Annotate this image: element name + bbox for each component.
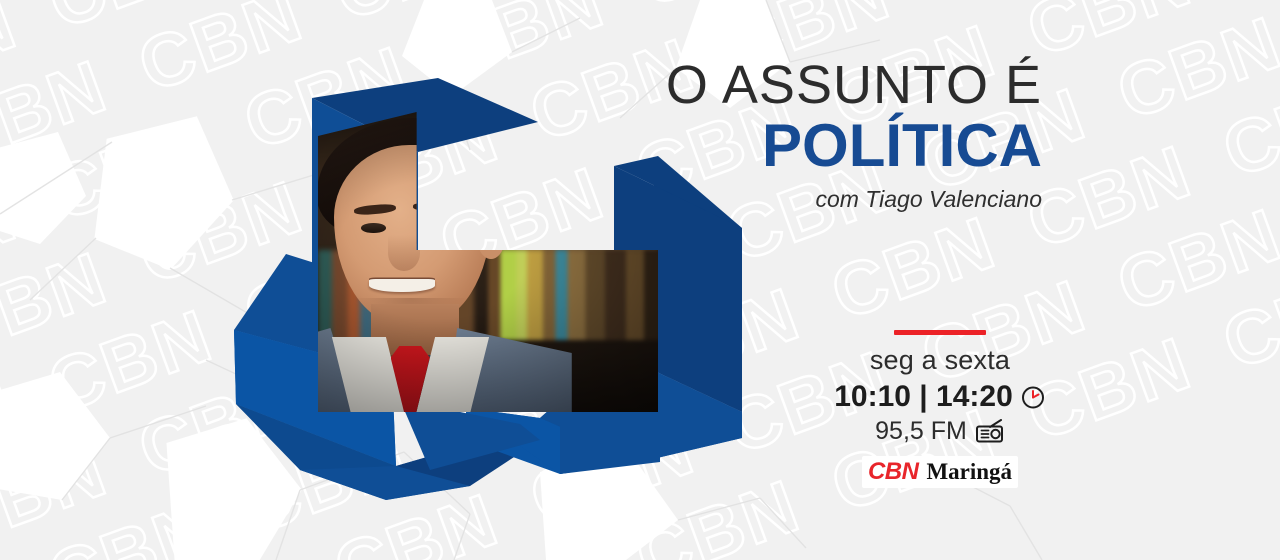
schedule-times: 10:10 | 14:20: [834, 380, 1013, 414]
cbn-city-text: Maringá: [926, 459, 1012, 485]
clock-icon: [1020, 384, 1046, 410]
radio-icon: [975, 419, 1005, 445]
cbn-brand-text: CBN: [868, 458, 919, 486]
watermark-row: CBNCBNCBNCBNCBNCBNCBNCBNCBN: [0, 0, 1280, 26]
headline-block: O ASSUNTO É POLÍTICA com Tiago Valencian…: [666, 58, 1042, 213]
banner-root: CBNCBNCBNCBNCBNCBNCBNCBNCBNCBNCBNCBNCBNC…: [0, 0, 1280, 560]
watermark-row: CBNCBNCBNCBNCBNCBNCBNCBNCBN: [0, 0, 1280, 218]
red-divider: [894, 330, 986, 335]
schedule-frequency-row: 95,5 FM: [840, 417, 1040, 446]
headline-line-2: POLÍTICA: [666, 115, 1042, 176]
schedule-times-row: 10:10 | 14:20: [840, 380, 1040, 414]
host-portrait: [318, 112, 658, 412]
watermark-row: CBNCBNCBNCBNCBNCBNCBNCBNCBN: [0, 0, 1280, 122]
cbn-maringa-logo: CBN Maringá: [862, 456, 1018, 488]
schedule-days: seg a sexta: [840, 345, 1040, 376]
schedule-block: seg a sexta 10:10 | 14:20 95,5 FM: [840, 330, 1040, 488]
schedule-frequency: 95,5 FM: [875, 417, 967, 446]
headline-host-credit: com Tiago Valenciano: [666, 186, 1042, 213]
headline-line-1: O ASSUNTO É: [666, 58, 1042, 113]
